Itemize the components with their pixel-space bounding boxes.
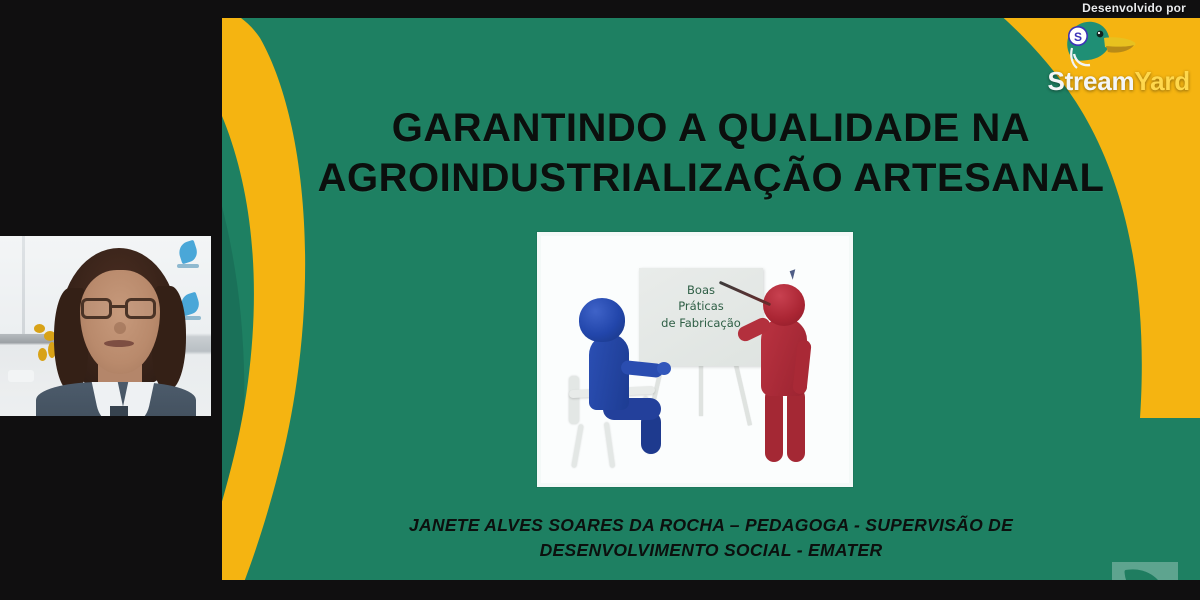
shirt-placket: [110, 406, 128, 416]
blue-figure-head: [579, 298, 625, 342]
easel-leg: [699, 364, 703, 416]
chair-leg: [571, 424, 584, 468]
easel-leg: [734, 364, 752, 425]
brand-kicker-label: Desenvolvido por: [1082, 1, 1186, 15]
svg-text:S: S: [1074, 30, 1082, 44]
red-figure-leg: [787, 388, 805, 462]
wordmark-stream: Stream: [1047, 66, 1134, 96]
participant-video-tile[interactable]: [0, 236, 211, 416]
emater-leaf-watermark-icon: [1112, 562, 1178, 580]
page-title: GARANTINDO A QUALIDADE NA AGROINDUSTRIAL…: [222, 103, 1200, 204]
presenter-credit-caption: JANETE ALVES SOARES DA ROCHA – PEDAGOGA …: [222, 513, 1200, 564]
chair-leg: [604, 422, 615, 468]
whiteboard: Boas Práticas de Fabricação: [639, 268, 763, 366]
whiteboard-line-2: Práticas: [645, 298, 757, 314]
desk-object: [8, 370, 34, 382]
streamyard-branding: Desenvolvido por S StreamYard: [1018, 0, 1194, 108]
participant-nose: [114, 322, 126, 334]
wall-logo-icon: [175, 242, 201, 276]
cursor-icon: [790, 269, 799, 280]
blue-figure-hand: [657, 362, 671, 375]
eyeglasses-icon: [80, 298, 160, 320]
wordmark-yard: Yard: [1134, 66, 1190, 96]
chair-backrest: [569, 376, 579, 424]
red-figure-leg: [765, 388, 783, 462]
slide-illustration: Boas Práticas de Fabricação: [537, 232, 853, 487]
streamyard-wordmark: StreamYard: [1047, 66, 1190, 97]
participant-mouth: [104, 340, 134, 347]
broadcast-stage: GARANTINDO A QUALIDADE NA AGROINDUSTRIAL…: [0, 0, 1200, 600]
